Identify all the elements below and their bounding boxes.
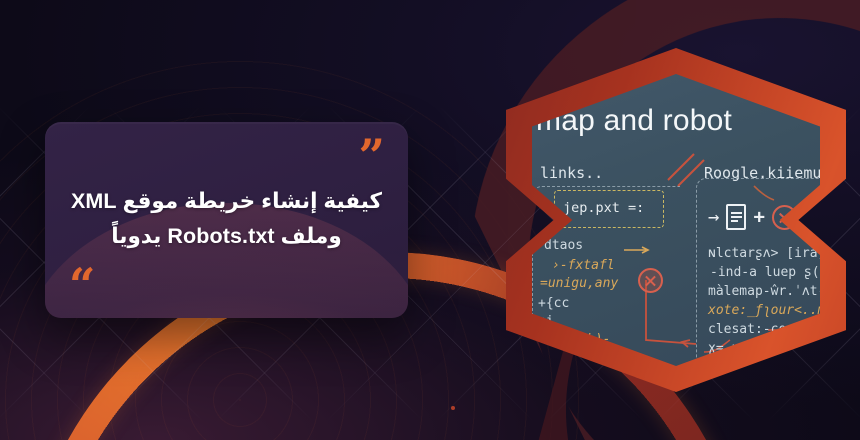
illustration-hexagon: map and robot ..links Roogle.kiiemu := j… <box>506 48 846 392</box>
illustration-content: map and robot ..links Roogle.kiiemu := j… <box>532 74 820 366</box>
hexagon-inner-panel: map and robot ..links Roogle.kiiemu := j… <box>532 74 820 366</box>
decorative-dot <box>451 406 455 410</box>
page-title: كيفية إنشاء خريطة موقع XML وملف Robots.t… <box>71 184 382 254</box>
code-line: dtaos <box>544 238 583 253</box>
arrow-right-icon: → <box>708 208 719 227</box>
code-line: cc}+ <box>538 296 569 311</box>
code-line: fxtafl-‹ <box>552 258 615 273</box>
circled-x-icon <box>638 268 663 293</box>
highlighted-path-text: := jep.pxt <box>563 200 644 216</box>
document-icon <box>726 204 746 230</box>
code-line: /ɴlctarʂʌ> [irā] <box>708 246 820 261</box>
banner-root: ” كيفية إنشاء خريطة موقع XML وملف Robots… <box>0 0 860 440</box>
code-line: <)ind-a luep ʂ- <box>710 265 820 280</box>
highlighted-path-box: := jep.pxt <box>554 190 664 228</box>
title-card: ” كيفية إنشاء خريطة موقع XML وملف Robots… <box>45 122 408 318</box>
quote-open-icon: “ <box>69 269 94 302</box>
quote-close-icon: ” <box>359 140 384 173</box>
code-line: xote:_ƒʅour<..mnoIc <box>708 303 820 318</box>
plus-icon: + <box>753 208 764 227</box>
code-line: màlemap-ŵr.ˈʌt-a <box>708 284 820 299</box>
code-line: unigu,any= <box>540 276 618 291</box>
illustration-subtitle-left: ..links <box>540 164 603 182</box>
